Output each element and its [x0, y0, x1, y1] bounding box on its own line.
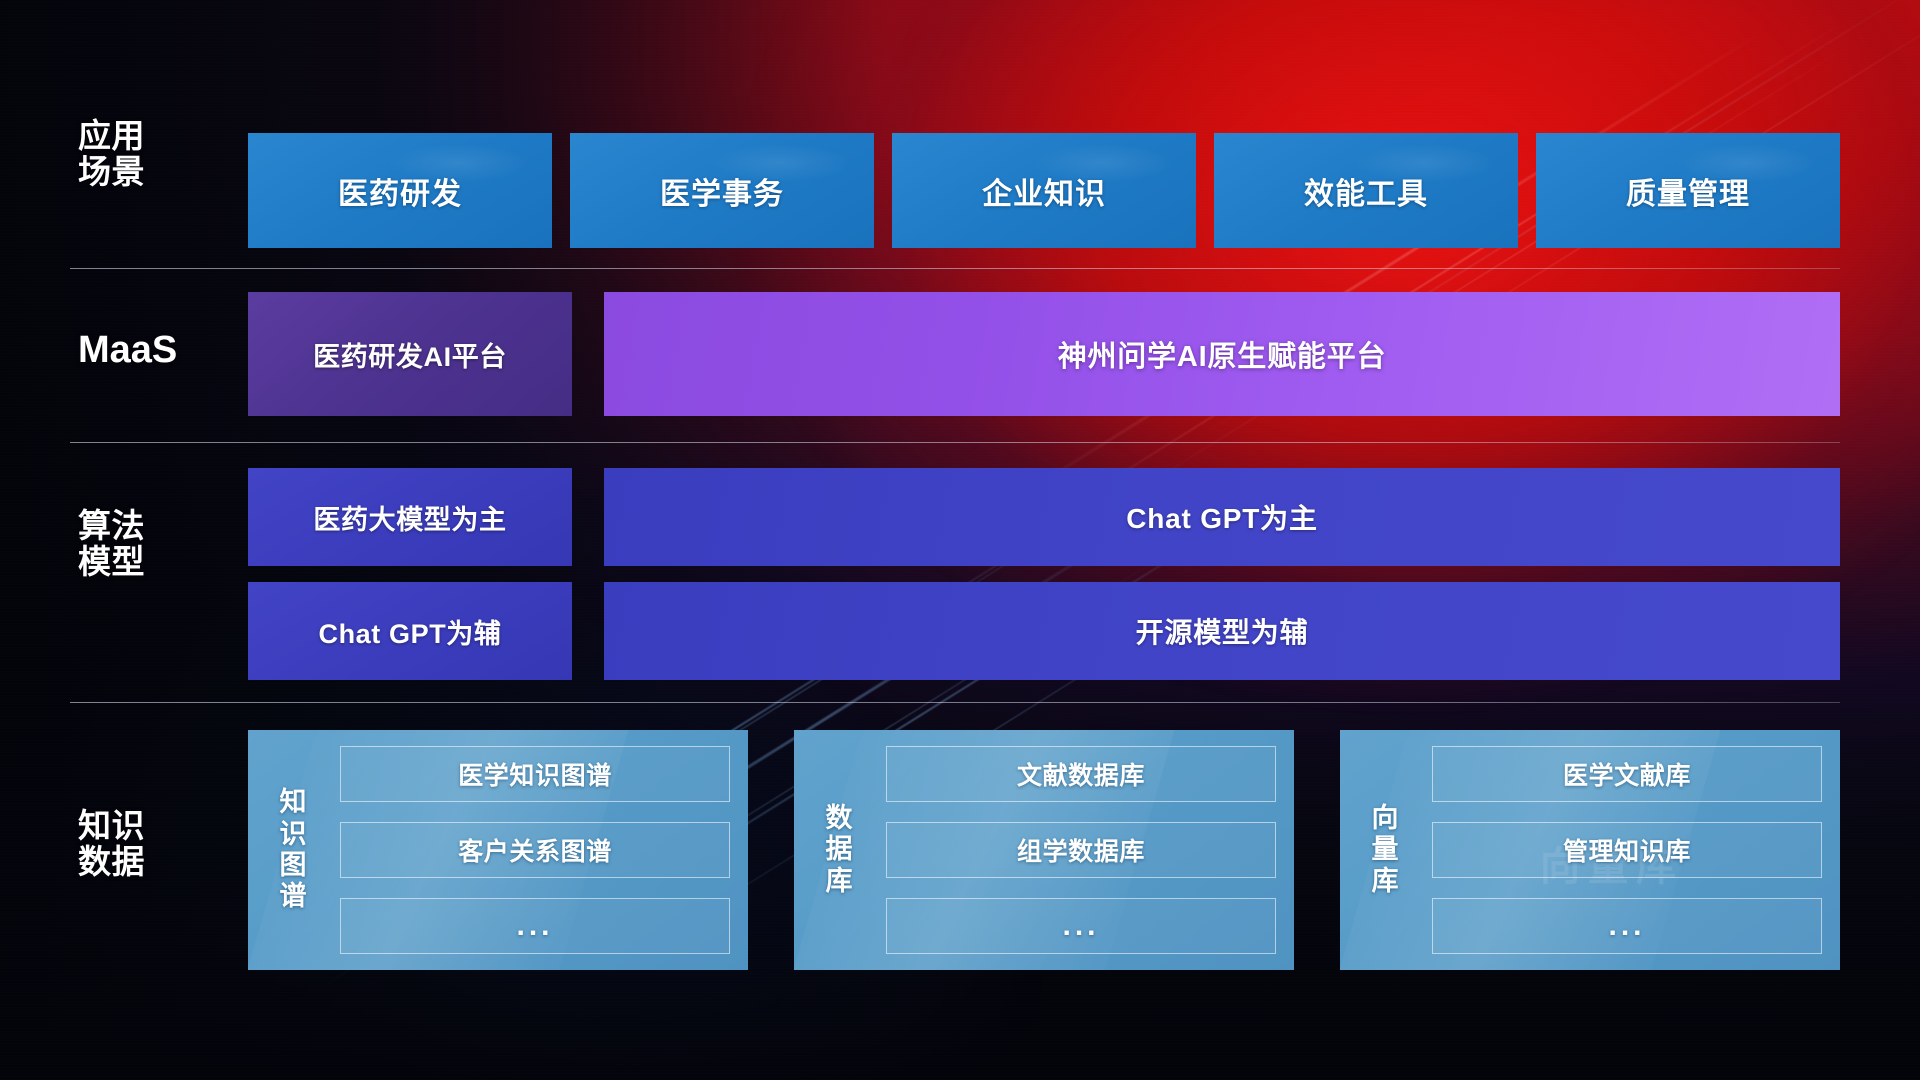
algorithm-model-line-primary: 医药大模型为主 Chat GPT为主	[248, 468, 1840, 566]
knowledge-item-more-1[interactable]: ...	[340, 898, 730, 954]
maas-row: 医药研发AI平台 神州问学AI原生赋能平台	[248, 292, 1840, 416]
algorithm-model-row: 医药大模型为主 Chat GPT为主 Chat GPT为辅 开源模型为辅	[248, 468, 1840, 680]
row-label-knowledge-data: 知识 数据	[78, 808, 208, 881]
knowledge-data-row: 知识图谱 医学知识图谱 客户关系图谱 ... 数据库 文献数据库 组学数据库 .…	[248, 730, 1840, 970]
vertical-label-char: 数	[826, 803, 853, 834]
app-card-efficiency-tools[interactable]: 效能工具	[1214, 133, 1518, 248]
vertical-label-char: 知	[280, 787, 307, 818]
algorithm-model-line-secondary: Chat GPT为辅 开源模型为辅	[248, 582, 1840, 680]
divider-line-3	[70, 702, 1840, 703]
row-label-line: MaaS	[78, 330, 208, 372]
row-label-algorithm-model: 算法 模型	[78, 508, 208, 581]
divider-line-1	[70, 268, 1840, 269]
app-card-quality-management[interactable]: 质量管理	[1536, 133, 1840, 248]
row-label-line: 场景	[78, 154, 208, 190]
architecture-diagram-slide: 应用 场景 医药研发 医学事务 企业知识 效能工具 质量管理 MaaS 医药研发…	[0, 0, 1920, 1080]
maas-card-shenzhou-wenxue-platform[interactable]: 神州问学AI原生赋能平台	[604, 292, 1840, 416]
vertical-label-char: 向	[1372, 803, 1399, 834]
knowledge-group-database: 数据库 文献数据库 组学数据库 ...	[794, 730, 1294, 970]
algo-card-medicine-llm-primary[interactable]: 医药大模型为主	[248, 468, 572, 566]
knowledge-item-management-knowledge-store[interactable]: 管理知识库	[1432, 822, 1822, 878]
knowledge-group-label-knowledge-graph: 知识图谱	[262, 746, 324, 954]
knowledge-item-omics-database[interactable]: 组学数据库	[886, 822, 1276, 878]
knowledge-item-more-2[interactable]: ...	[886, 898, 1276, 954]
knowledge-item-medical-knowledge-graph[interactable]: 医学知识图谱	[340, 746, 730, 802]
app-card-enterprise-knowledge[interactable]: 企业知识	[892, 133, 1196, 248]
vertical-label-char: 库	[826, 866, 853, 897]
algo-card-chatgpt-secondary[interactable]: Chat GPT为辅	[248, 582, 572, 680]
row-label-line: 模型	[78, 544, 208, 580]
knowledge-group-label-database: 数据库	[808, 746, 870, 954]
vertical-label-char: 图	[280, 850, 307, 881]
row-label-maas: MaaS	[78, 330, 208, 372]
application-scenario-cards: 医药研发 医学事务 企业知识 效能工具 质量管理	[248, 133, 1840, 248]
row-label-line: 应用	[78, 118, 208, 154]
app-card-medicine-rd[interactable]: 医药研发	[248, 133, 552, 248]
row-label-line: 知识	[78, 808, 208, 844]
knowledge-item-list: 医学知识图谱 客户关系图谱 ...	[324, 746, 730, 954]
knowledge-item-list: 医学文献库 管理知识库 ...	[1416, 746, 1822, 954]
vertical-label-char: 库	[1372, 866, 1399, 897]
vertical-label-char: 量	[1372, 834, 1399, 865]
algo-card-opensource-secondary[interactable]: 开源模型为辅	[604, 582, 1840, 680]
row-label-line: 数据	[78, 844, 208, 880]
maas-card-medicine-ai-platform[interactable]: 医药研发AI平台	[248, 292, 572, 416]
knowledge-item-list: 文献数据库 组学数据库 ...	[870, 746, 1276, 954]
algo-card-chatgpt-primary[interactable]: Chat GPT为主	[604, 468, 1840, 566]
row-label-application-scenario: 应用 场景	[78, 118, 208, 191]
knowledge-group-vector-store: 向量库 医学文献库 管理知识库 ...	[1340, 730, 1840, 970]
knowledge-item-customer-relation-graph[interactable]: 客户关系图谱	[340, 822, 730, 878]
knowledge-item-literature-database[interactable]: 文献数据库	[886, 746, 1276, 802]
knowledge-group-knowledge-graph: 知识图谱 医学知识图谱 客户关系图谱 ...	[248, 730, 748, 970]
knowledge-group-label-vector-store: 向量库	[1354, 746, 1416, 954]
vertical-label-char: 识	[280, 819, 307, 850]
divider-line-2	[70, 442, 1840, 443]
knowledge-item-medical-literature-store[interactable]: 医学文献库	[1432, 746, 1822, 802]
row-label-line: 算法	[78, 508, 208, 544]
app-card-medical-affairs[interactable]: 医学事务	[570, 133, 874, 248]
knowledge-item-more-3[interactable]: ...	[1432, 898, 1822, 954]
vertical-label-char: 据	[826, 834, 853, 865]
vertical-label-char: 谱	[280, 881, 307, 912]
